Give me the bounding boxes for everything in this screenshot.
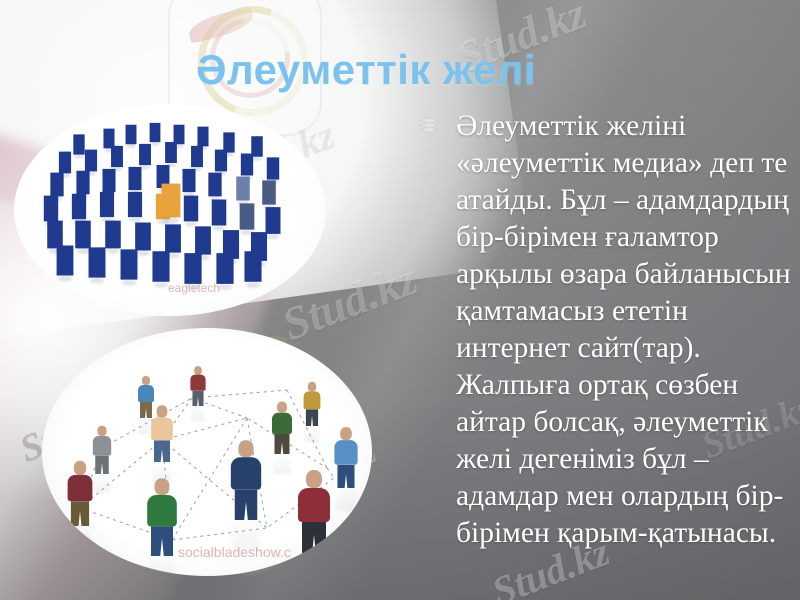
crowd-figure bbox=[85, 150, 97, 172]
crowd-figure bbox=[165, 224, 181, 252]
network-people-group bbox=[42, 328, 372, 576]
network-person-figure bbox=[68, 461, 93, 526]
network-person-figure bbox=[298, 470, 330, 554]
crowd-figure bbox=[47, 221, 63, 249]
crowd-figure bbox=[208, 173, 221, 197]
crowd-figure bbox=[152, 251, 169, 282]
crowd-figure bbox=[262, 180, 276, 204]
slide-title: Әлеуметтік желі bbox=[196, 46, 536, 94]
crowd-figure bbox=[73, 134, 84, 154]
crowd-figure bbox=[59, 152, 71, 174]
crowd-figure bbox=[89, 247, 106, 277]
crowd-figure bbox=[135, 223, 151, 251]
crowd-figure bbox=[191, 146, 203, 167]
crowd-figure bbox=[139, 144, 151, 165]
crowd-figure bbox=[212, 200, 227, 226]
crowd-figure bbox=[195, 226, 211, 254]
crowd-figure bbox=[182, 169, 195, 192]
crowd-figure bbox=[75, 221, 91, 249]
content-block: Әлеуметтік желіні «әлеуметтік медиа» деп… bbox=[412, 108, 796, 552]
crowd-figure bbox=[244, 251, 261, 282]
crowd-figure bbox=[184, 196, 198, 222]
crowd-figure bbox=[128, 167, 141, 190]
presentation-slide: Stud.kz Stud.kz Stud.kz Stud.kz Stud.kz … bbox=[0, 0, 800, 600]
network-person-figure bbox=[147, 478, 177, 556]
crowd-figure bbox=[50, 173, 63, 197]
crowd-highlight-figure bbox=[162, 184, 181, 218]
crowd-figure bbox=[76, 171, 89, 195]
crowd-figure bbox=[241, 154, 253, 176]
crowd-figure bbox=[216, 253, 233, 284]
network-person-figure bbox=[93, 426, 111, 474]
crowd-figure bbox=[150, 123, 161, 142]
book-stack-icon bbox=[418, 116, 440, 136]
crowd-image-caption: eagletech bbox=[168, 281, 220, 295]
crowd-figure bbox=[105, 221, 121, 249]
network-person-figure bbox=[151, 405, 173, 462]
network-person-figure bbox=[190, 366, 205, 406]
crowd-figure bbox=[240, 203, 255, 229]
crowd-figure bbox=[266, 207, 281, 234]
crowd-figure bbox=[197, 127, 208, 147]
network-person-figure bbox=[334, 427, 357, 488]
crowd-figure bbox=[215, 150, 227, 172]
crowd-figure bbox=[267, 157, 279, 179]
crowd-figure bbox=[111, 146, 123, 167]
crowd-figure bbox=[102, 169, 115, 192]
crowd-figure bbox=[100, 192, 114, 217]
crowd-figure bbox=[126, 125, 137, 145]
crowd-figure bbox=[128, 192, 142, 217]
people-network-illustration bbox=[42, 328, 372, 576]
network-person-figure bbox=[272, 402, 292, 455]
crowd-figure bbox=[165, 142, 177, 163]
crowd-figure bbox=[44, 196, 58, 222]
logo-bird-icon bbox=[186, 6, 255, 43]
network-person-figure bbox=[231, 440, 261, 520]
crowd-figure bbox=[184, 253, 201, 284]
crowd-figure bbox=[121, 249, 138, 279]
crowd-figure bbox=[72, 194, 86, 220]
crowd-figure bbox=[57, 246, 74, 276]
network-person-figure bbox=[304, 382, 321, 426]
crowd-figure bbox=[236, 177, 249, 201]
body-paragraph: Әлеуметтік желіні «әлеуметтік медиа» деп… bbox=[456, 108, 796, 552]
